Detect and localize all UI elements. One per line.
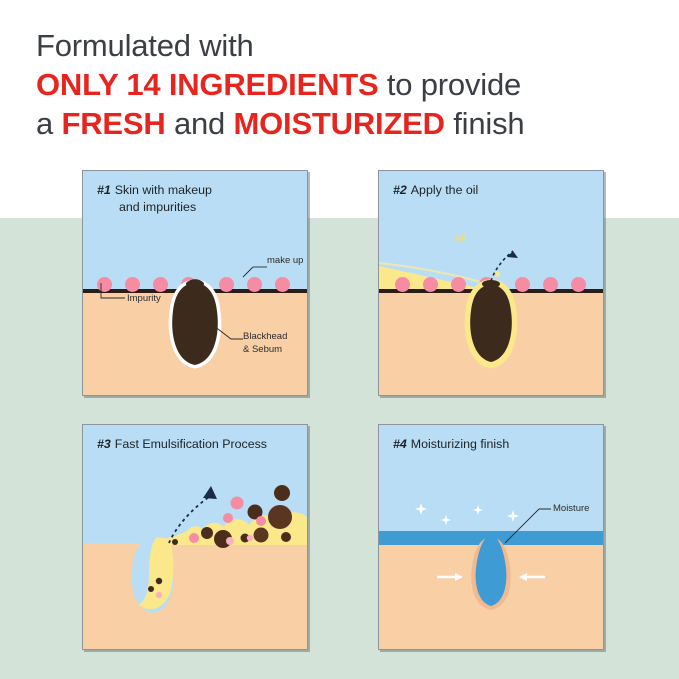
panel-4-title-line1: Moisturizing finish [411,437,509,451]
panel-1-title-line2: and impurities [119,200,196,214]
label-blackhead-line2: & Sebum [243,344,282,355]
panel-4-title: #4Moisturizing finish [393,436,595,453]
step-panel-3: #3Fast Emulsification Process [82,424,308,650]
absorption-arrows [379,425,603,649]
panel-1-title-line1: Skin with makeup [115,183,212,197]
poster-root: Formulated with ONLY 14 INGREDIENTS to p… [0,0,679,679]
headline-fresh-emphasis: FRESH [61,106,165,141]
headline-ingredients-emphasis: ONLY 14 INGREDIENTS [36,67,378,102]
label-impurity: Impurity [127,293,161,304]
panel-2-number: #2 [393,183,407,197]
headline-line-3-mid: and [166,106,234,141]
panel-2-illustration: #2Apply the oil oil [379,171,603,395]
panel-3-number: #3 [97,437,111,451]
page-title: Formulated with ONLY 14 INGREDIENTS to p… [36,26,656,143]
headline-line-2: ONLY 14 INGREDIENTS to provide [36,65,656,104]
headline-line-3: a FRESH and MOISTURIZED finish [36,104,656,143]
headline-line-3-a: a [36,106,61,141]
panel-4-number: #4 [393,437,407,451]
step-panel-2: #2Apply the oil oil [378,170,604,396]
panel-1-number: #1 [97,183,111,197]
step-panel-1: #1Skin with makeup and impurities make u… [82,170,308,396]
panel-2-title-line1: Apply the oil [411,183,479,197]
panel-2-title: #2Apply the oil [393,182,595,199]
pore-sebum-graphic-2 [379,171,603,395]
emulsification-graphic [83,425,307,649]
panel-3-title: #3Fast Emulsification Process [97,436,299,453]
panel-4-illustration: #4Moisturizing finish Moisture [379,425,603,649]
headline-moisturized-emphasis: MOISTURIZED [234,106,445,141]
panel-1-title: #1Skin with makeup and impurities [97,182,299,215]
panel-1-illustration: #1Skin with makeup and impurities make u… [83,171,307,395]
headline-line-2-rest: to provide [378,67,521,102]
label-blackhead-line1: Blackhead [243,331,287,342]
headline-line-3-end: finish [445,106,525,141]
label-oil: oil [455,233,467,244]
step-panel-4: #4Moisturizing finish Moisture [378,424,604,650]
label-makeup: make up [267,255,303,266]
panel-3-illustration: #3Fast Emulsification Process [83,425,307,649]
panel-3-title-line1: Fast Emulsification Process [115,437,267,451]
label-moisture: Moisture [553,503,589,514]
headline-line-1: Formulated with [36,26,656,65]
